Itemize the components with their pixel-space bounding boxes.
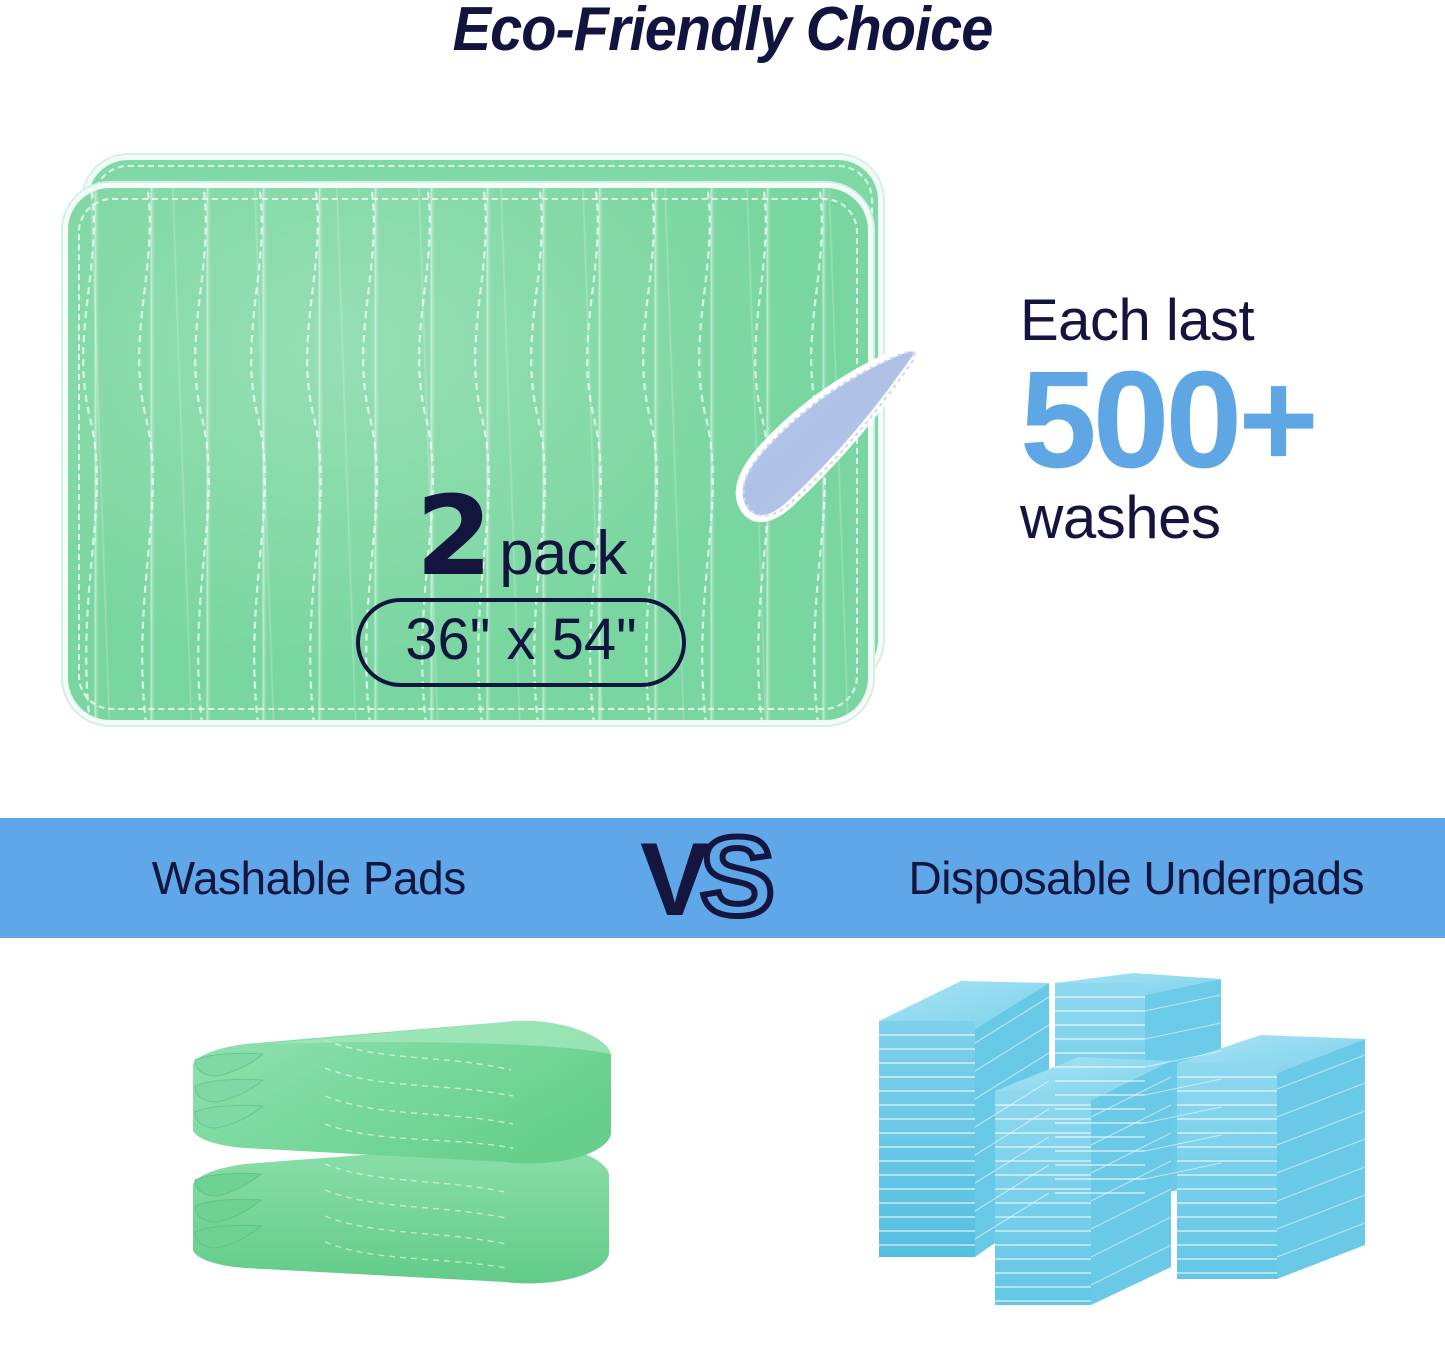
infographic-root: Eco-Friendly Choice xyxy=(0,0,1445,1370)
pack-count: 2 xyxy=(416,490,490,584)
comparison-left-label: Washable Pads xyxy=(0,851,638,905)
comparison-right-label: Disposable Underpads xyxy=(798,851,1445,905)
size-badge: 36" x 54" xyxy=(356,598,686,687)
hero-product-image: 2 pack 36" x 54" xyxy=(60,160,890,725)
svg-text:V: V xyxy=(640,823,709,933)
folded-washable-pads-image xyxy=(175,978,625,1298)
svg-text:S: S xyxy=(700,823,775,933)
pack-size-callout: 2 pack 36" x 54" xyxy=(356,490,686,687)
page-title: Eco-Friendly Choice xyxy=(51,0,1395,65)
claim-line-2: washes xyxy=(1020,488,1420,548)
vs-icon: V S xyxy=(638,823,798,933)
washes-claim: Each last 500+ washes xyxy=(1020,292,1420,548)
disposable-underpad-stacks-image xyxy=(865,973,1385,1318)
comparison-images xyxy=(0,938,1445,1370)
pack-word: pack xyxy=(499,526,626,582)
comparison-banner: Washable Pads V S Disposable Underpads xyxy=(0,818,1445,938)
claim-line-1: Each last xyxy=(1020,292,1420,350)
claim-highlight: 500+ xyxy=(1020,354,1420,486)
